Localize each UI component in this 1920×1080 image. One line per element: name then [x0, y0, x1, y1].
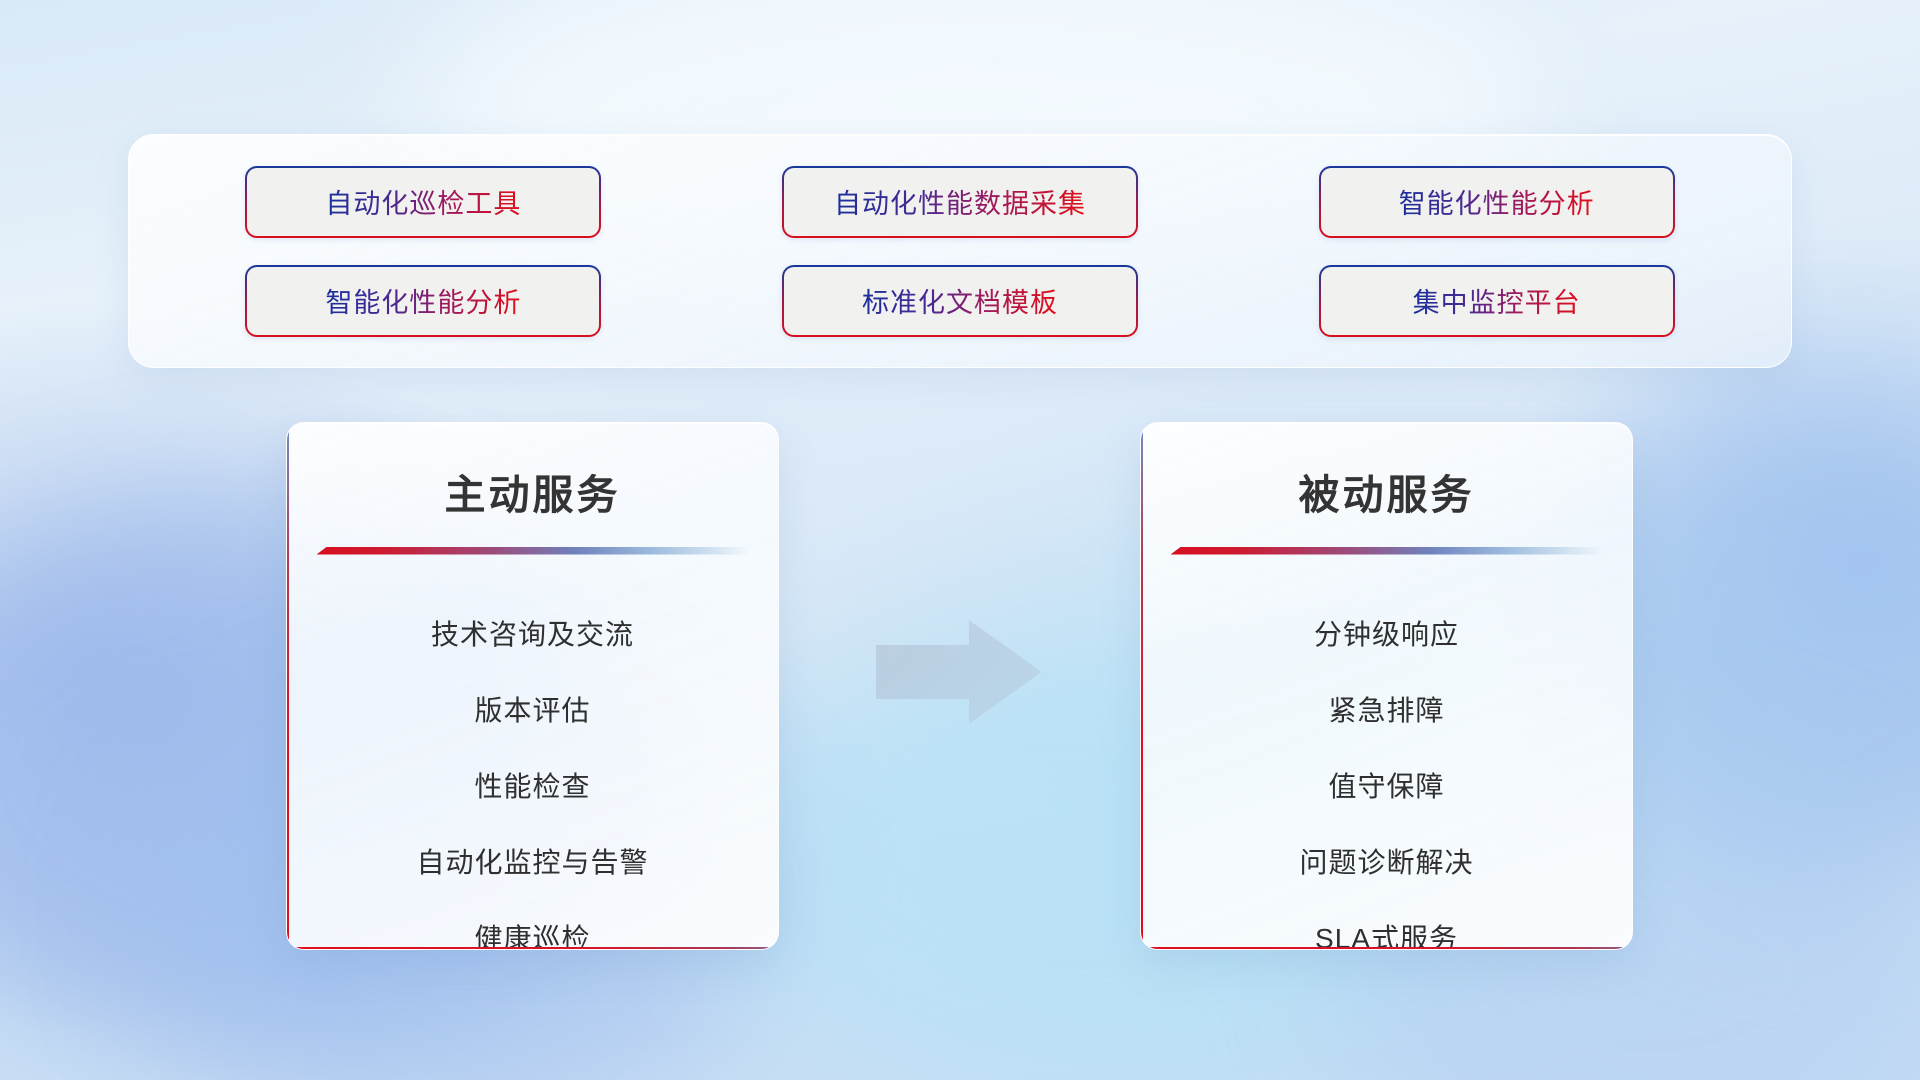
- capability-tag[interactable]: 自动化性能数据采集: [782, 166, 1138, 238]
- service-list-item: 值守保障: [1141, 747, 1632, 823]
- service-list-item: 问题诊断解决: [1141, 823, 1632, 899]
- slide-canvas: 自动化巡检工具 自动化性能数据采集 智能化性能分析 智能化性能分析 标准化文档模…: [0, 0, 1920, 1080]
- service-list-item: 性能检查: [287, 747, 778, 823]
- title-divider-bar: [1171, 547, 1603, 559]
- capability-tag[interactable]: 标准化文档模板: [782, 265, 1138, 337]
- capability-tag[interactable]: 智能化性能分析: [245, 265, 601, 337]
- service-card-proactive[interactable]: 主动服务 技术咨询及交流 版本评估 性能检查 自动化监控与告警 健康巡检: [286, 422, 779, 950]
- capability-tag-label: 自动化巡检工具: [325, 182, 521, 221]
- capability-tag-label: 自动化性能数据采集: [834, 182, 1086, 221]
- service-list-item: 版本评估: [287, 671, 778, 747]
- service-list-item: SLA式服务: [1141, 899, 1632, 950]
- capability-tag-inner: 自动化性能数据采集: [784, 168, 1136, 236]
- title-divider: [317, 547, 749, 559]
- capability-tag-inner: 标准化文档模板: [784, 267, 1136, 335]
- service-list-item: 自动化监控与告警: [287, 823, 778, 899]
- capability-tag-label: 智能化性能分析: [325, 281, 521, 320]
- service-item-list: 分钟级响应 紧急排障 值守保障 问题诊断解决 SLA式服务: [1141, 595, 1632, 950]
- service-card-title: 主动服务: [287, 461, 778, 521]
- capability-tag[interactable]: 智能化性能分析: [1319, 166, 1675, 238]
- title-divider: [1171, 547, 1603, 559]
- capability-tag-inner: 自动化巡检工具: [247, 168, 599, 236]
- arrow-right-icon: [876, 620, 1042, 724]
- capability-tag[interactable]: 自动化巡检工具: [245, 166, 601, 238]
- capability-tag-inner: 集中监控平台: [1321, 267, 1673, 335]
- service-card-reactive[interactable]: 被动服务 分钟级响应 紧急排障 值守保障 问题诊断解决 SLA式服务: [1140, 422, 1633, 950]
- service-card-title: 被动服务: [1141, 461, 1632, 521]
- service-list-item: 分钟级响应: [1141, 595, 1632, 671]
- capability-tag-inner: 智能化性能分析: [1321, 168, 1673, 236]
- capability-tag-label: 集中监控平台: [1413, 281, 1581, 320]
- capability-tag-inner: 智能化性能分析: [247, 267, 599, 335]
- title-divider-bar: [317, 547, 749, 559]
- capability-tag[interactable]: 集中监控平台: [1319, 265, 1675, 337]
- capability-tag-panel: 自动化巡检工具 自动化性能数据采集 智能化性能分析 智能化性能分析 标准化文档模…: [128, 134, 1792, 368]
- service-list-item: 健康巡检: [287, 899, 778, 950]
- capability-tag-label: 标准化文档模板: [862, 281, 1058, 320]
- service-list-item: 紧急排障: [1141, 671, 1632, 747]
- capability-tag-label: 智能化性能分析: [1399, 182, 1595, 221]
- service-list-item: 技术咨询及交流: [287, 595, 778, 671]
- service-item-list: 技术咨询及交流 版本评估 性能检查 自动化监控与告警 健康巡检: [287, 595, 778, 950]
